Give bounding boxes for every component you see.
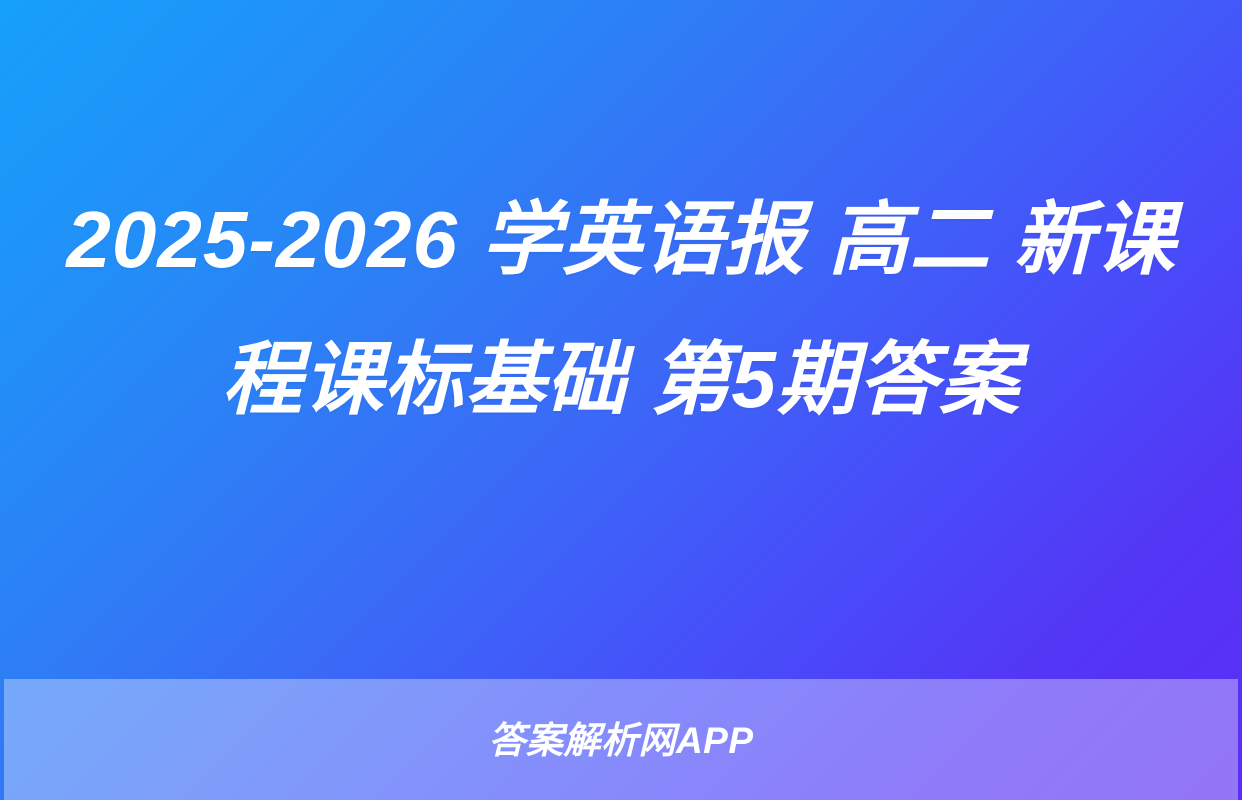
title-block: 2025-2026 学英语报 高二 新课程课标基础 第5期答案	[62, 170, 1180, 450]
footer-brand-band: 答案解析网APP	[4, 679, 1238, 800]
answer-card: 2025-2026 学英语报 高二 新课程课标基础 第5期答案 答案解析网APP	[0, 0, 1242, 800]
page-title: 2025-2026 学英语报 高二 新课程课标基础 第5期答案	[62, 170, 1180, 450]
brand-watermark-label: 答案解析网APP	[488, 722, 753, 759]
